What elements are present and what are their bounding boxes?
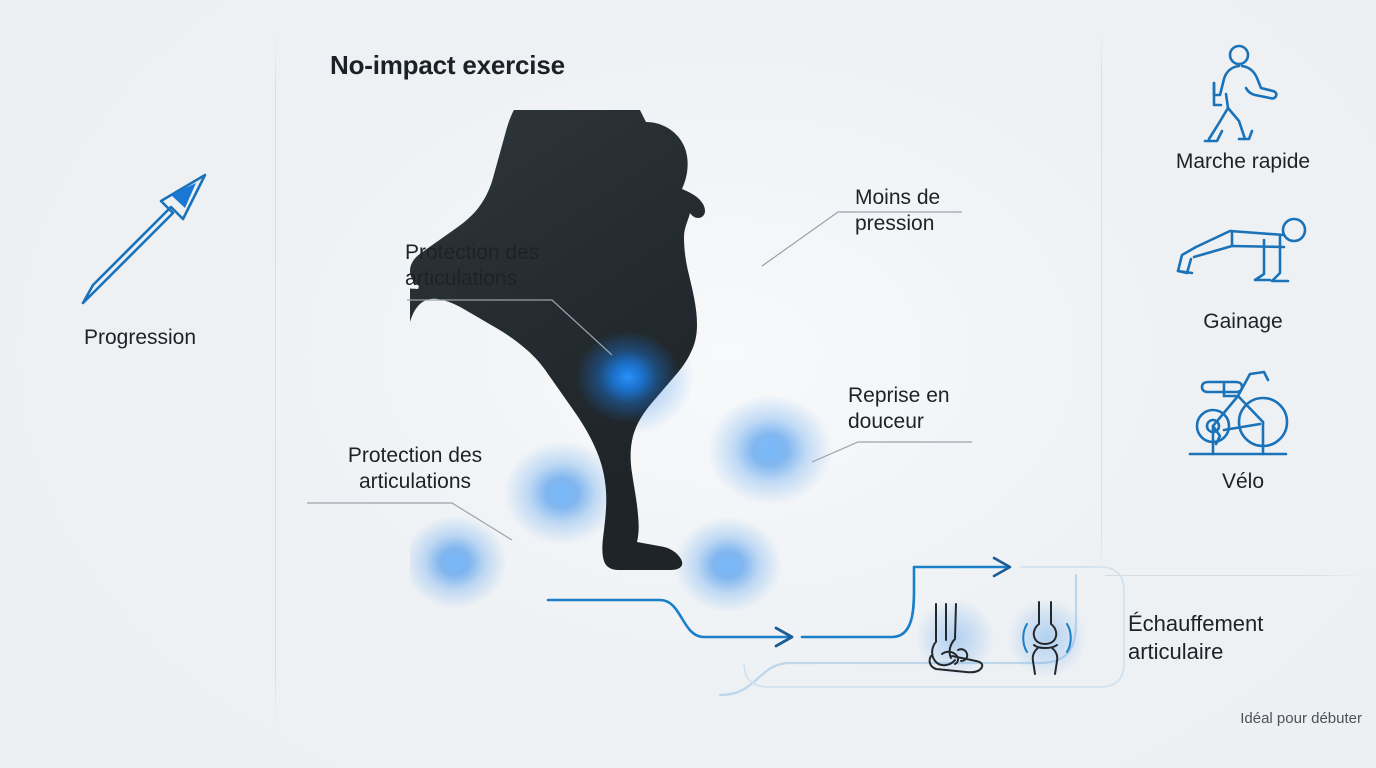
annotation-line-1: Protection des <box>305 443 525 469</box>
progression-label: Progression <box>40 326 240 350</box>
arrow-up-right-icon <box>40 150 240 320</box>
annotation-line-1: Reprise en <box>848 383 1028 409</box>
annotation-line-2: articulations <box>305 469 525 495</box>
infographic-canvas: No-impact exercise Progression <box>0 0 1376 768</box>
warmup-label-line-2: articulaire <box>1128 638 1368 666</box>
exercise-bike-icon <box>1130 360 1356 468</box>
annotation-protection-top: Protection des articulations <box>405 240 615 293</box>
walking-person-icon <box>1130 40 1356 148</box>
annotation-line-1: Protection des <box>405 240 615 266</box>
progression-block: Progression <box>40 150 240 350</box>
exercise-label: Vélo <box>1130 470 1356 494</box>
knee-joint-icon <box>1012 595 1082 680</box>
exercise-item-marche-rapide[interactable]: Marche rapide <box>1130 40 1356 174</box>
exercise-label: Marche rapide <box>1130 150 1356 174</box>
divider-left <box>275 30 276 730</box>
page-title: No-impact exercise <box>330 50 565 81</box>
annotation-line-2: articulations <box>405 266 615 292</box>
divider-bottom-right <box>1105 575 1367 576</box>
warmup-label: Échauffement articulaire <box>1128 610 1368 665</box>
foot-bones-icon <box>920 595 990 680</box>
warmup-joint-icons <box>920 595 1082 680</box>
plank-person-icon <box>1130 200 1356 308</box>
divider-right <box>1101 30 1102 575</box>
annotation-line-2: pression <box>855 211 1035 237</box>
warmup-label-line-1: Échauffement <box>1128 610 1368 638</box>
annotation-line-2: douceur <box>848 409 1028 435</box>
annotation-reprise-en-douceur: Reprise en douceur <box>848 383 1028 436</box>
annotation-line-1: Moins de <box>855 185 1035 211</box>
exercise-rail: Marche rapide Gainage <box>1130 40 1356 520</box>
annotation-protection-bottom: Protection des articulations <box>305 443 525 496</box>
exercise-item-gainage[interactable]: Gainage <box>1130 200 1356 334</box>
footnote: Idéal pour débuter <box>1100 710 1362 727</box>
exercise-item-velo[interactable]: Vélo <box>1130 360 1356 494</box>
annotation-moins-de-pression: Moins de pression <box>855 185 1035 238</box>
exercise-label: Gainage <box>1130 310 1356 334</box>
